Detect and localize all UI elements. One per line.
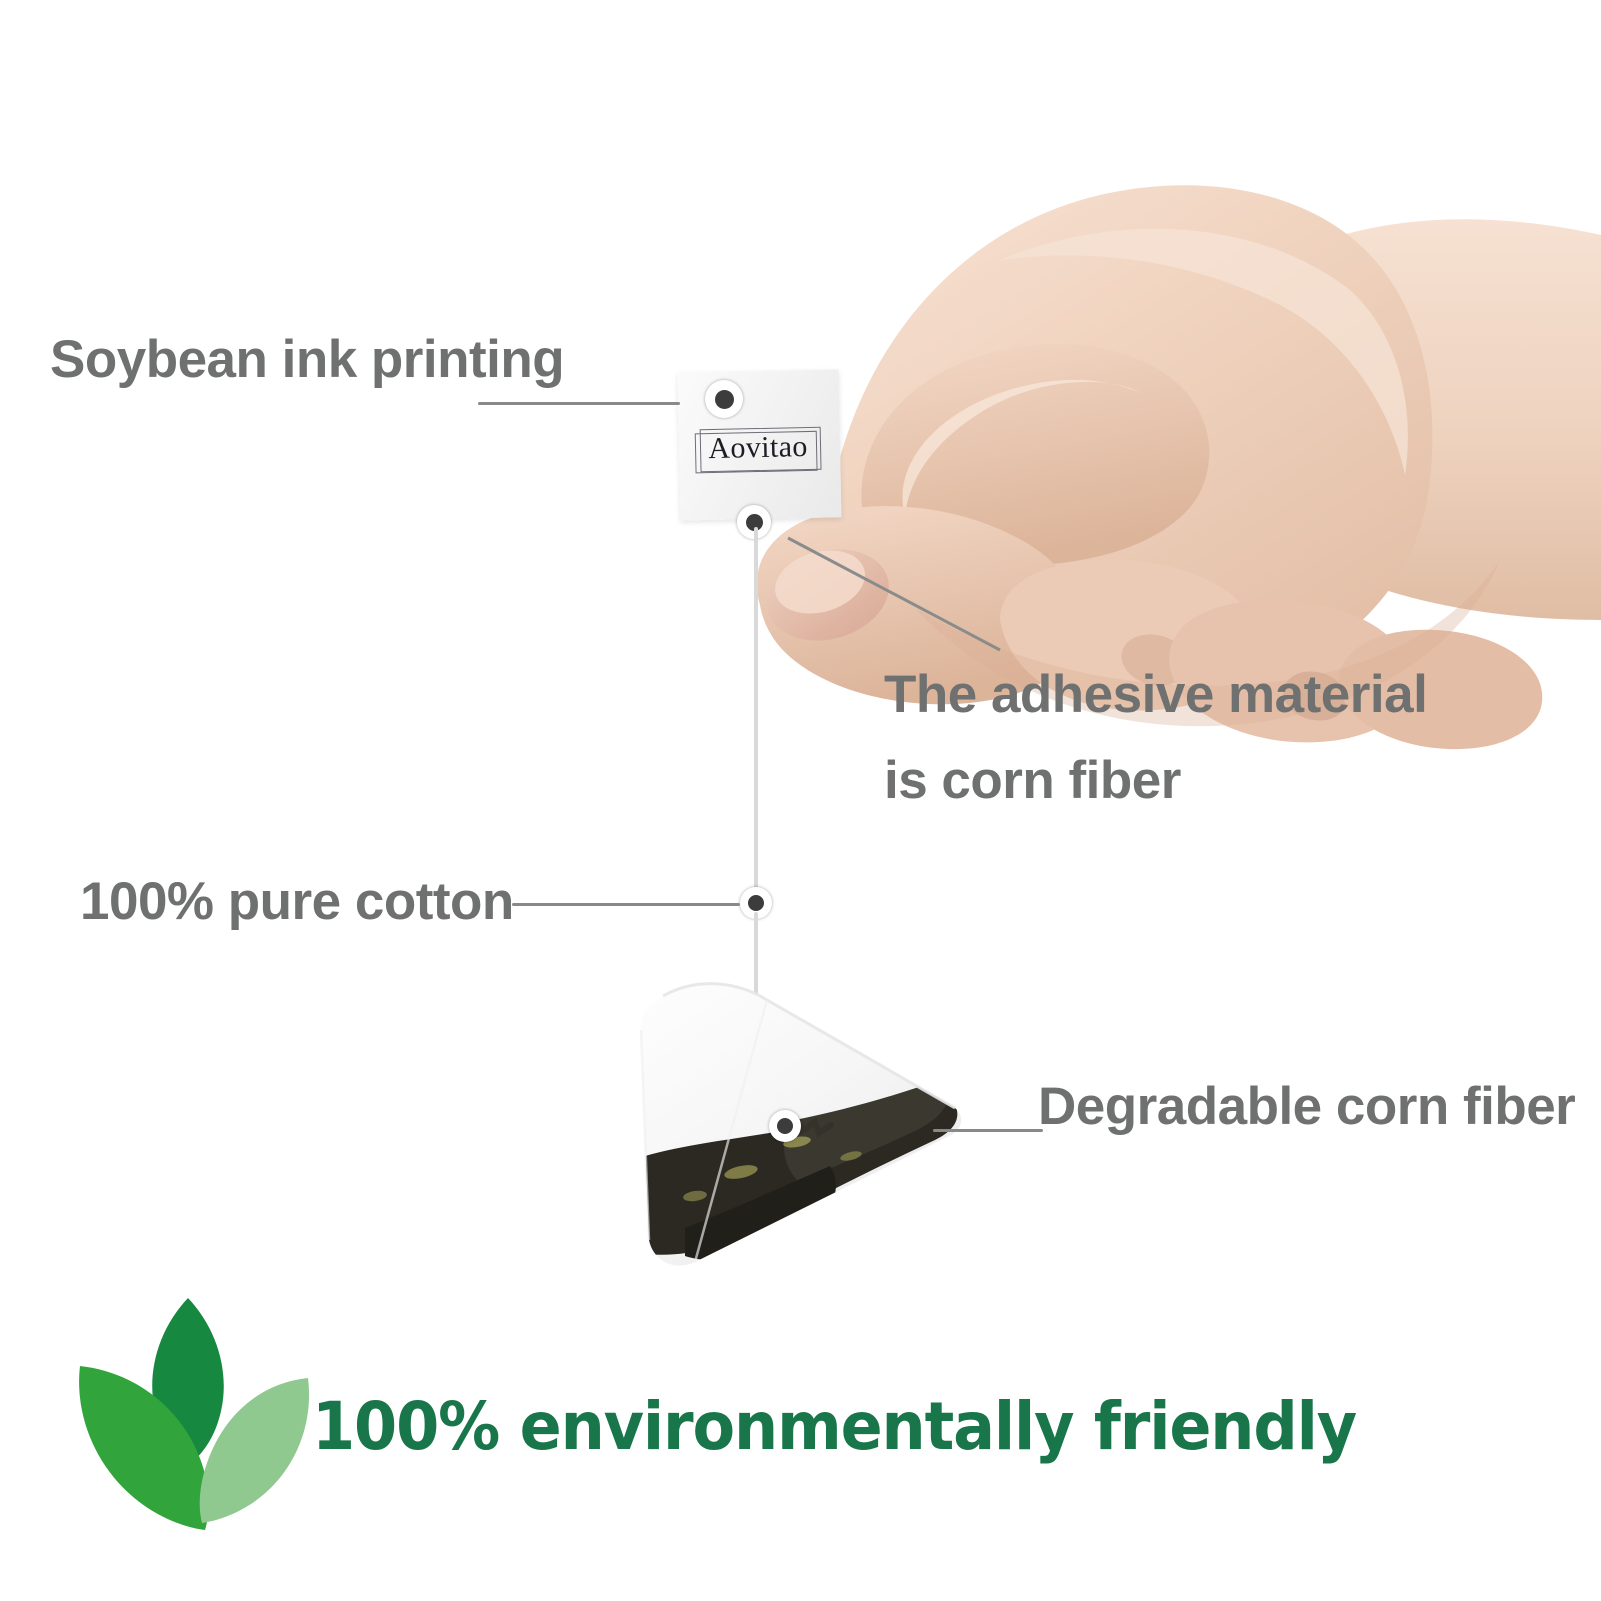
callout-adhesive-line-1: The adhesive material: [884, 652, 1444, 738]
brand-name: Aovitao: [695, 430, 822, 467]
eyelet-icon-bag: [769, 1110, 801, 1142]
leader-line-cotton: [512, 903, 740, 906]
callout-adhesive-material: The adhesive material is corn fiber: [884, 652, 1444, 824]
three-leaf-eco-logo: [72, 1288, 340, 1536]
leader-line-degradable: [933, 1129, 1043, 1132]
brand-frame: Aovitao: [695, 427, 822, 477]
callout-soybean-ink-printing: Soybean ink printing: [50, 333, 564, 386]
callout-pure-cotton: 100% pure cotton: [80, 875, 514, 928]
eyelet-icon-tag-top: [705, 380, 743, 418]
eco-headline: 100% environmentally friendly: [312, 1394, 1356, 1460]
pyramid-tea-bag: [545, 960, 975, 1280]
leader-line-soybean: [478, 402, 680, 405]
tea-bag-tag: Aovitao: [677, 369, 841, 520]
cotton-string-upper: [754, 527, 758, 892]
callout-adhesive-line-2: is corn fiber: [884, 738, 1444, 824]
callout-degradable-corn-fiber: Degradable corn fiber: [1038, 1080, 1575, 1133]
product-infographic: Aovitao: [0, 0, 1601, 1601]
